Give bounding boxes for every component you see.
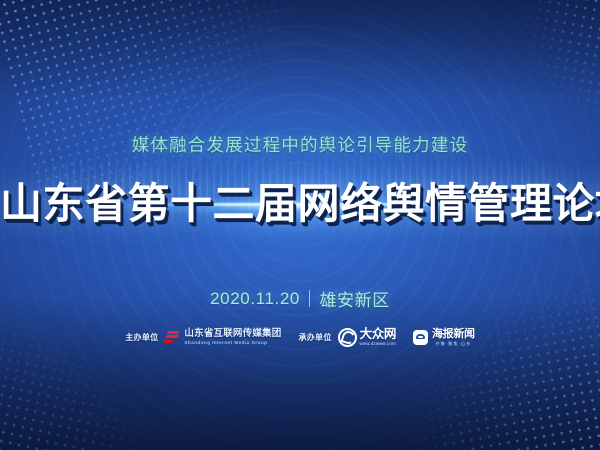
poster-title: 山东省第十二届网络舆情管理论坛 [0, 170, 600, 231]
logo-name-en: Shandong Internet Media Group [184, 341, 281, 346]
sponsor-row: 主办单位 山东省互联网传媒集团 Shandong Internet Media … [0, 328, 600, 347]
logo-name-en: www.dzwww.com [360, 342, 396, 346]
divider-icon [309, 290, 311, 307]
conference-poster: 媒体融合发展过程中的舆论引导能力建设 山东省第十二届网络舆情管理论坛 2020.… [0, 0, 600, 450]
logo-tagline: 齐鲁·聚焦·山东 [435, 342, 471, 346]
swirl-circle-mark-icon [338, 328, 357, 347]
logo-name-cn: 大众网 [360, 328, 396, 341]
poster-content: 媒体融合发展过程中的舆论引导能力建设 山东省第十二届网络舆情管理论坛 2020.… [0, 0, 600, 450]
event-location: 雄安新区 [319, 286, 389, 311]
sponsor-group-co-organizer: 承办单位 大众网 www.dzwww.com [298, 328, 396, 347]
event-date: 2020.11.20 [210, 289, 300, 309]
red-stripes-mark-icon [164, 331, 180, 345]
event-date-location: 2020.11.20 雄安新区 [0, 286, 600, 311]
sponsor-label-organizer: 主办单位 [125, 332, 158, 343]
logo-shandong-internet-media-group: 山东省互联网传媒集团 Shandong Internet Media Group [164, 329, 281, 345]
logo-haibao-news: 海报新闻 齐鲁·聚焦·山东 [413, 329, 475, 346]
logo-name-cn: 海报新闻 [432, 329, 475, 340]
logo-text-block: 山东省互联网传媒集团 Shandong Internet Media Group [184, 329, 281, 345]
white-badge-mark-icon [413, 330, 428, 345]
sponsor-group-haibao-news: 海报新闻 齐鲁·聚焦·山东 [413, 329, 475, 346]
logo-dazhongwang: 大众网 www.dzwww.com [338, 328, 396, 347]
sponsor-label-co-organizer: 承办单位 [298, 332, 331, 343]
logo-name-cn: 山东省互联网传媒集团 [184, 329, 281, 339]
poster-subtitle: 媒体融合发展过程中的舆论引导能力建设 [0, 132, 600, 157]
logo-text-block: 大众网 www.dzwww.com [360, 328, 396, 346]
sponsor-group-organizer: 主办单位 山东省互联网传媒集团 Shandong Internet Media … [125, 329, 281, 345]
logo-text-block: 海报新闻 齐鲁·聚焦·山东 [432, 329, 475, 346]
